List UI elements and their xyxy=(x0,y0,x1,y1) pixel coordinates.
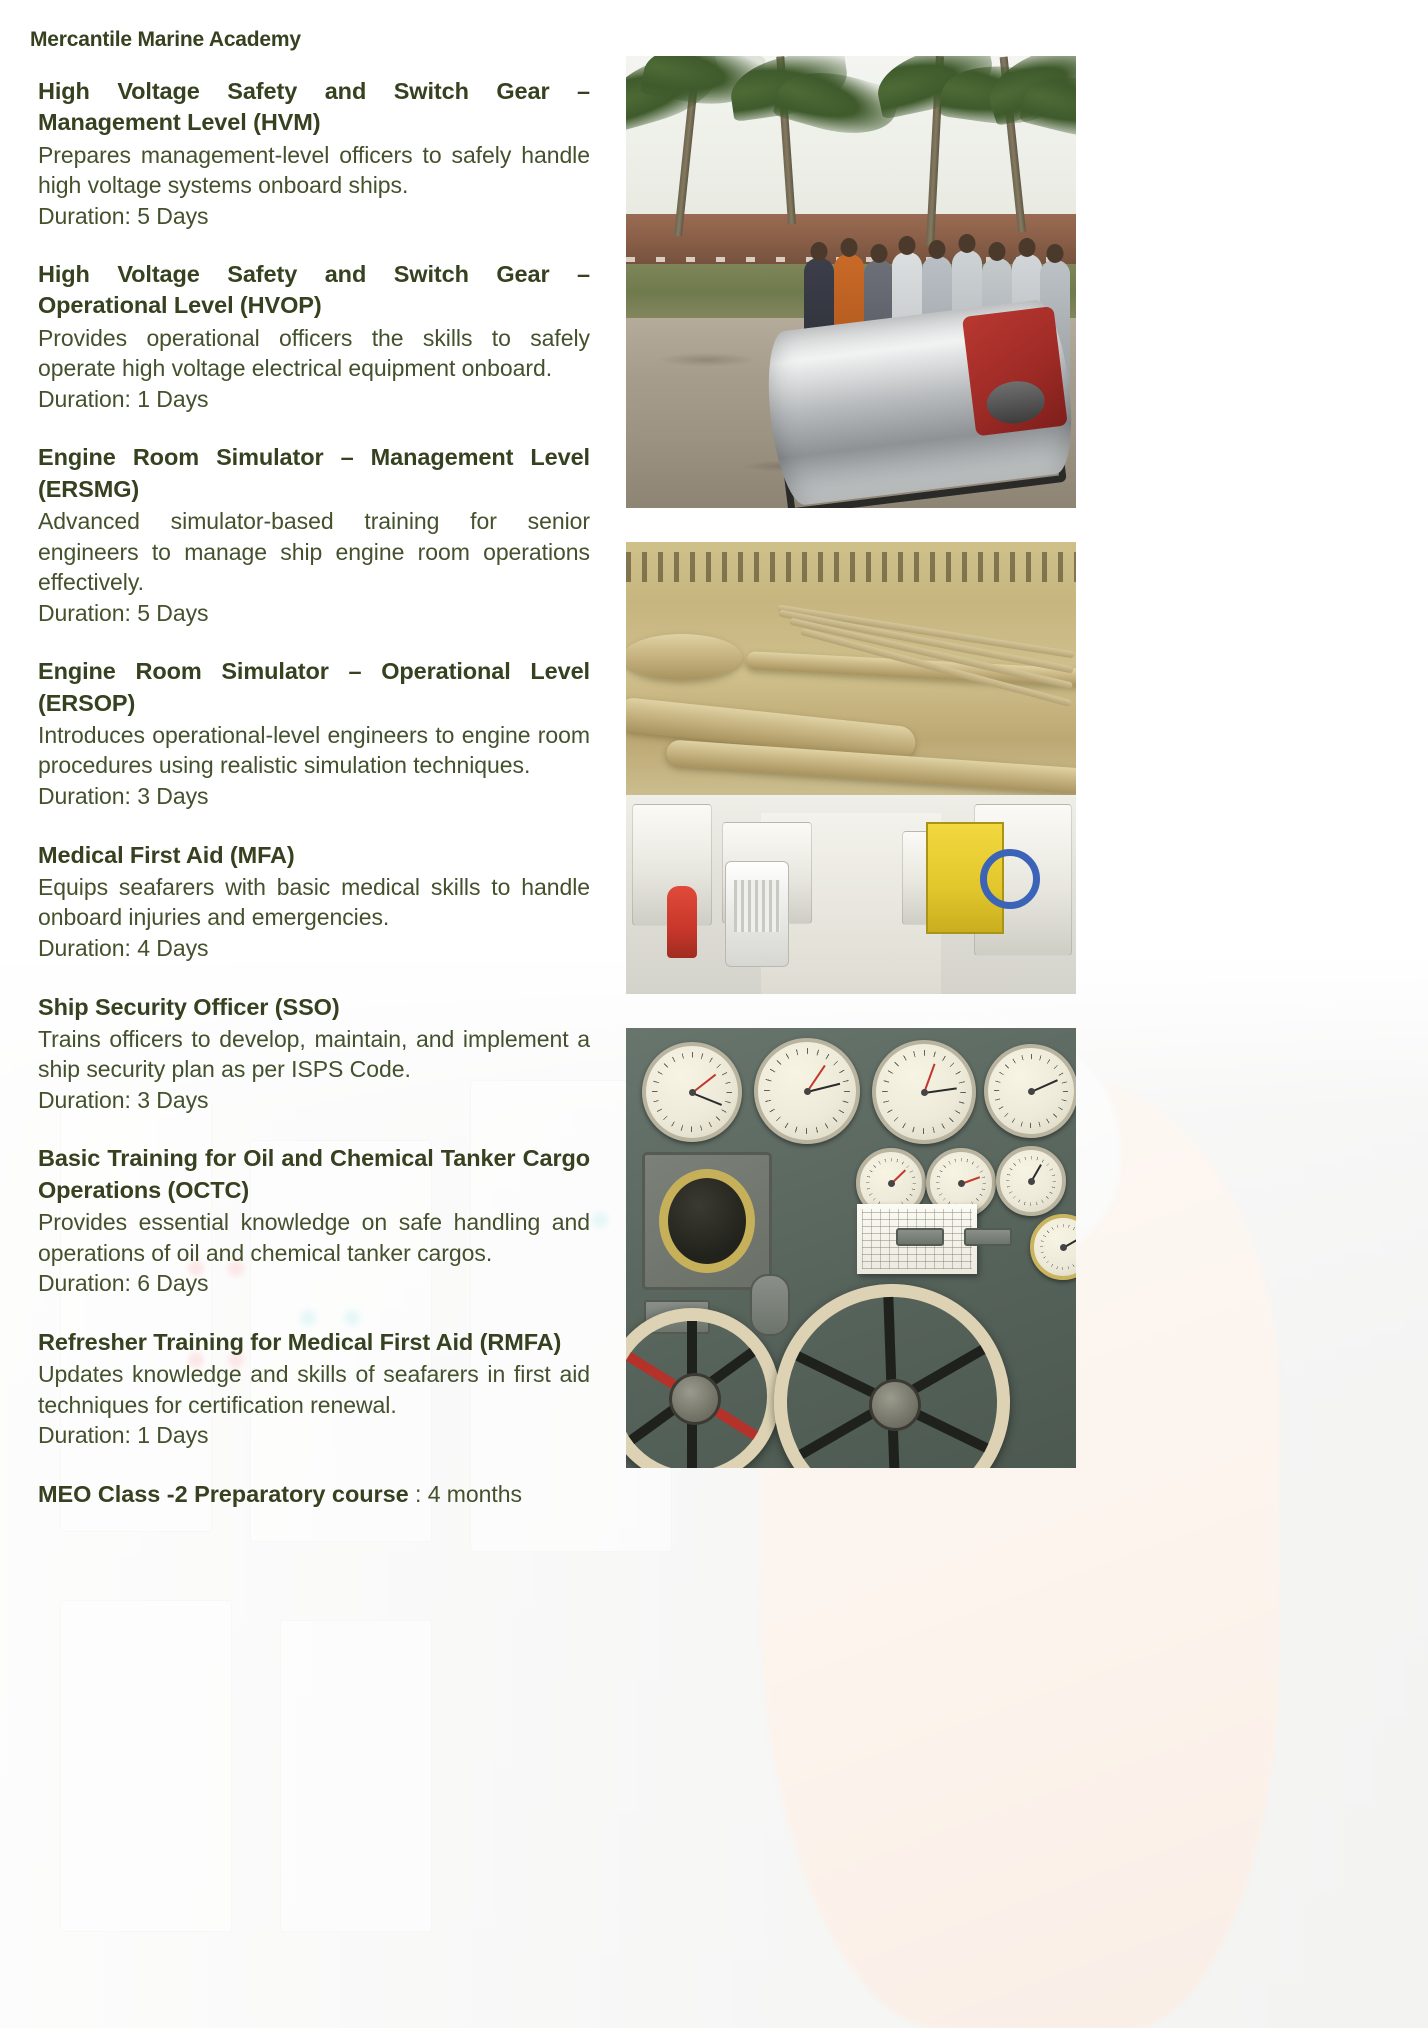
wheel-hub xyxy=(669,1373,721,1425)
course-description: Advanced simulator-based training for se… xyxy=(38,506,590,598)
trainee-head xyxy=(811,242,828,261)
pressure-gauge xyxy=(872,1040,976,1144)
gauge-hub xyxy=(1028,1088,1035,1095)
meo-value: 4 months xyxy=(428,1481,522,1507)
pressure-gauge xyxy=(984,1044,1076,1138)
trainee-head xyxy=(959,234,976,253)
course-item: High Voltage Safety and Switch Gear – Ma… xyxy=(38,76,590,231)
course-description: Updates knowledge and skills of seafarer… xyxy=(38,1359,590,1420)
gauge-hub xyxy=(689,1089,696,1096)
trainee-head xyxy=(871,244,888,263)
course-description: Provides essential knowledge on safe han… xyxy=(38,1207,590,1268)
pressure-gauge xyxy=(642,1042,742,1142)
course-description: Provides operational officers the skills… xyxy=(38,323,590,384)
gauge-hub xyxy=(1028,1178,1035,1185)
course-title: Engine Room Simulator – Operational Leve… xyxy=(38,656,590,719)
course-description: Equips seafarers with basic medical skil… xyxy=(38,872,590,933)
gauge-hub xyxy=(804,1088,811,1095)
blue-valve-wheel xyxy=(980,849,1040,909)
meo-line: MEO Class -2 Preparatory course : 4 mont… xyxy=(38,1479,590,1510)
course-title: Refresher Training for Medical First Aid… xyxy=(38,1327,590,1358)
photo-column xyxy=(626,56,1076,1468)
trainee-head xyxy=(1019,238,1036,257)
course-duration: Duration: 5 Days xyxy=(38,201,590,232)
fire-extinguisher xyxy=(667,886,697,958)
gauge-hub xyxy=(1060,1244,1067,1251)
photo-engine-room xyxy=(626,542,1076,994)
background-cabinet xyxy=(60,1600,232,1932)
course-item: Medical First Aid (MFA) Equips seafarers… xyxy=(38,840,590,964)
course-title: High Voltage Safety and Switch Gear – Op… xyxy=(38,259,590,322)
label-plate xyxy=(964,1228,1012,1246)
course-item: High Voltage Safety and Switch Gear – Op… xyxy=(38,259,590,414)
course-list: High Voltage Safety and Switch Gear – Ma… xyxy=(38,76,590,1533)
trainee-head xyxy=(899,236,916,255)
gauge-hub xyxy=(888,1180,895,1187)
course-title: High Voltage Safety and Switch Gear – Ma… xyxy=(38,76,590,139)
course-item: Ship Security Officer (SSO) Trains offic… xyxy=(38,992,590,1116)
background-cabinet xyxy=(280,1620,432,1932)
course-description: Introduces operational-level engineers t… xyxy=(38,720,590,781)
course-description: Trains officers to develop, maintain, an… xyxy=(38,1024,590,1085)
course-duration: Duration: 6 Days xyxy=(38,1268,590,1299)
trainee-head xyxy=(989,242,1006,261)
page-title: Mercantile Marine Academy xyxy=(30,28,301,52)
pressure-gauge xyxy=(996,1146,1066,1216)
trainee-head xyxy=(1047,244,1064,263)
stainless-steel-tank xyxy=(760,297,1076,507)
trainee-head xyxy=(929,240,946,259)
background-indicator-light xyxy=(592,1212,608,1228)
photo-gauge-panel xyxy=(626,1028,1076,1468)
course-duration: Duration: 1 Days xyxy=(38,1420,590,1451)
label-plate xyxy=(896,1228,944,1246)
pipe-fitting xyxy=(750,1274,790,1336)
recorder-instrument xyxy=(642,1152,772,1290)
vertical-pump-motor xyxy=(725,861,789,967)
photo-trainees-outdoor xyxy=(626,56,1076,508)
red-engine-unit xyxy=(962,306,1068,436)
course-item: Engine Room Simulator – Operational Leve… xyxy=(38,656,590,811)
course-title: Ship Security Officer (SSO) xyxy=(38,992,590,1023)
course-item: Engine Room Simulator – Management Level… xyxy=(38,442,590,628)
pressure-gauge xyxy=(754,1038,860,1144)
course-title: Medical First Aid (MFA) xyxy=(38,840,590,871)
gauge-hub xyxy=(921,1089,928,1096)
course-title: Basic Training for Oil and Chemical Tank… xyxy=(38,1143,590,1206)
course-item: Basic Training for Oil and Chemical Tank… xyxy=(38,1143,590,1298)
pipe-flange xyxy=(626,634,742,680)
course-title: Engine Room Simulator – Management Level… xyxy=(38,442,590,505)
course-description: Prepares management-level officers to sa… xyxy=(38,140,590,201)
meo-course-item: MEO Class -2 Preparatory course : 4 mont… xyxy=(38,1479,590,1510)
course-duration: Duration: 3 Days xyxy=(38,1085,590,1116)
course-item: Refresher Training for Medical First Aid… xyxy=(38,1327,590,1451)
gauge-hub xyxy=(958,1180,965,1187)
course-duration: Duration: 4 Days xyxy=(38,933,590,964)
trainee-head xyxy=(841,238,858,257)
wheel-hub xyxy=(869,1379,921,1431)
course-duration: Duration: 1 Days xyxy=(38,384,590,415)
gauge-ticks xyxy=(1040,1224,1076,1270)
course-duration: Duration: 3 Days xyxy=(38,781,590,812)
meo-separator: : xyxy=(409,1481,428,1507)
course-duration: Duration: 5 Days xyxy=(38,598,590,629)
meo-label: MEO Class -2 Preparatory course xyxy=(38,1481,409,1507)
recorder-dial xyxy=(659,1169,755,1273)
